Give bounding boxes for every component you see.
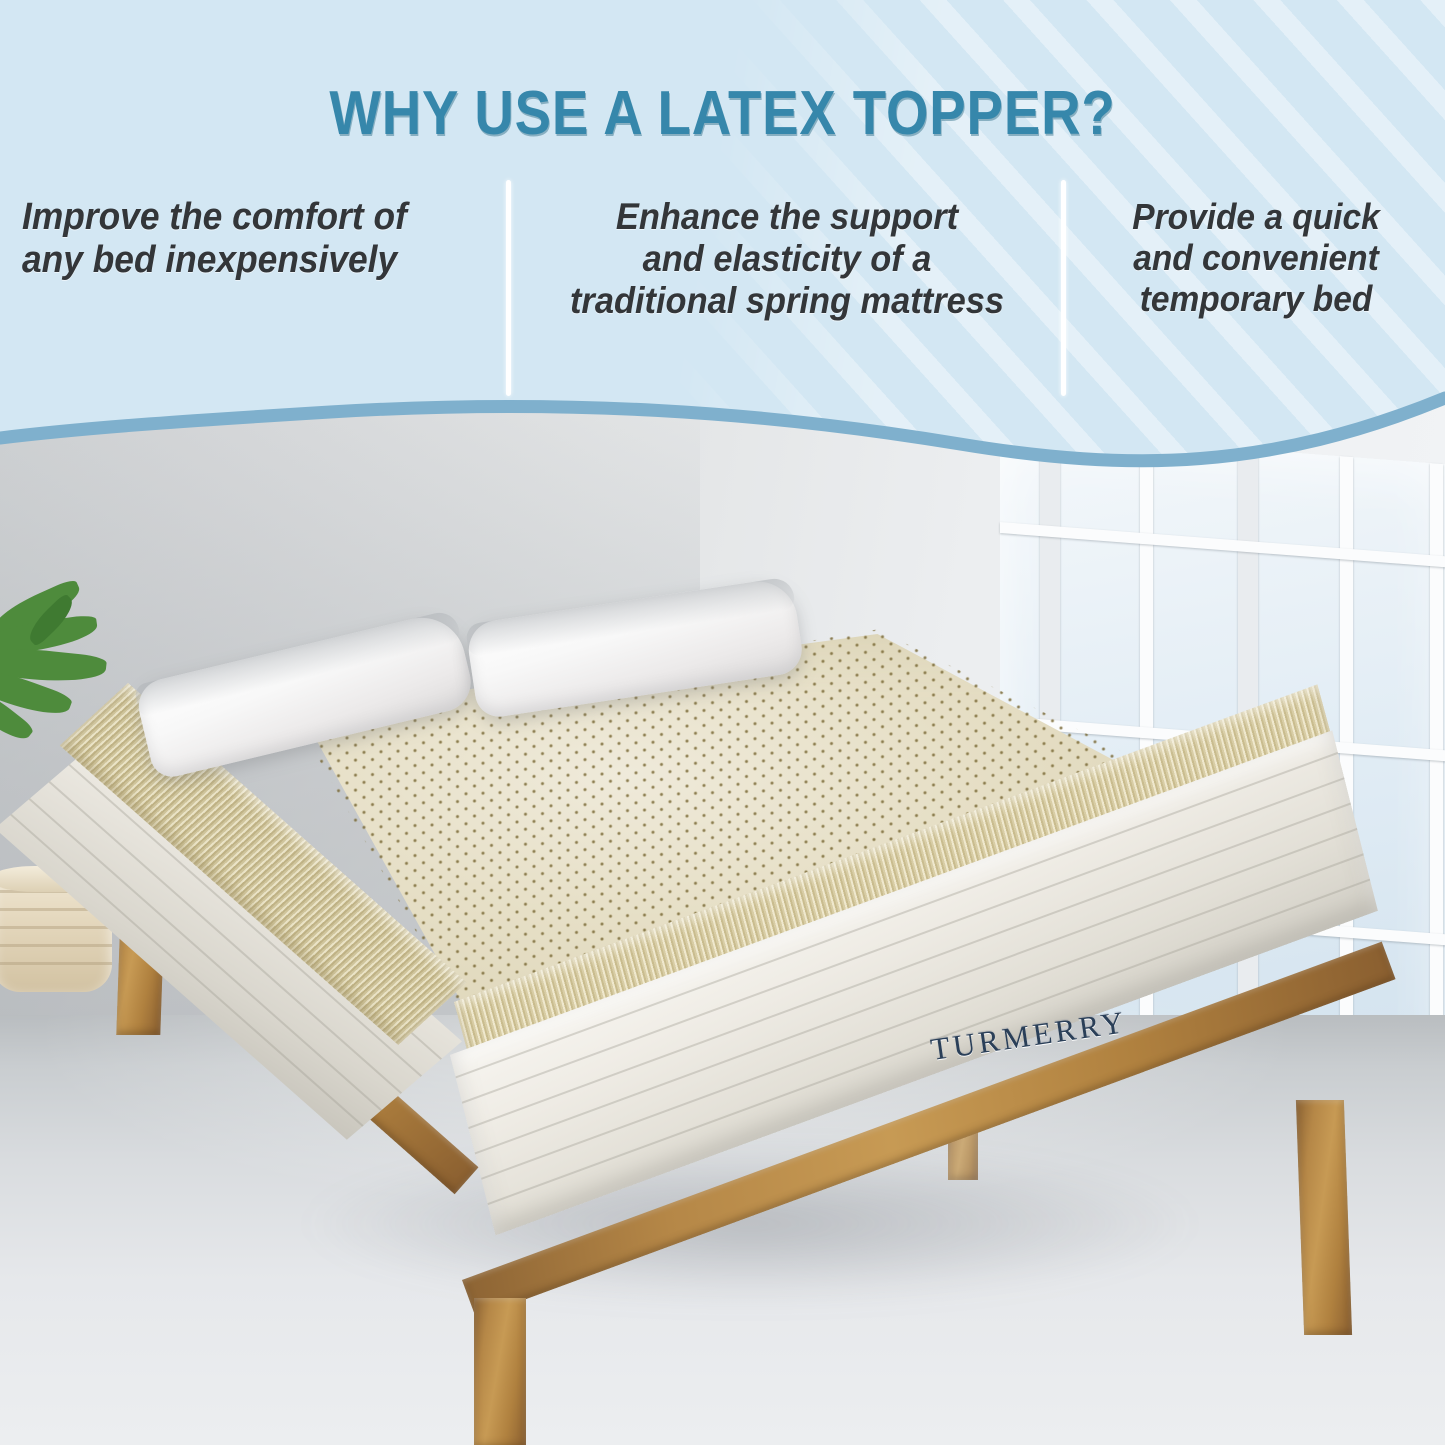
benefit-column-temporary: Provide a quick and convenient temporary…: [1098, 196, 1414, 319]
bed-leg-right: [1296, 1100, 1352, 1335]
benefit-line: and elasticity of a: [541, 238, 1034, 280]
column-divider-right: [1061, 180, 1066, 396]
bed-floor-shadow: [150, 1120, 1400, 1380]
benefit-line: temporary bed: [1098, 278, 1414, 319]
benefit-column-support: Enhance the support and elasticity of a …: [541, 196, 1034, 323]
page-title: WHY USE A LATEX TOPPER?: [87, 78, 1359, 149]
benefit-line: and convenient: [1098, 237, 1414, 278]
benefit-line: Enhance the support: [541, 196, 1034, 238]
window-mullion-horizontal: [1000, 522, 1445, 568]
benefit-line: Provide a quick: [1098, 196, 1414, 237]
column-divider-left: [506, 180, 511, 396]
benefit-line: traditional spring mattress: [541, 280, 1034, 322]
benefit-column-comfort: Improve the comfort of any bed inexpensi…: [22, 196, 452, 283]
benefit-line: Improve the comfort of: [22, 196, 452, 239]
product-infographic: TURMERRY WHY USE A LATEX TOPPER? Improve…: [0, 0, 1445, 1445]
benefit-line: any bed inexpensively: [22, 239, 452, 282]
bed-leg-front: [474, 1298, 526, 1445]
benefit-columns: Improve the comfort of any bed inexpensi…: [0, 196, 1445, 396]
